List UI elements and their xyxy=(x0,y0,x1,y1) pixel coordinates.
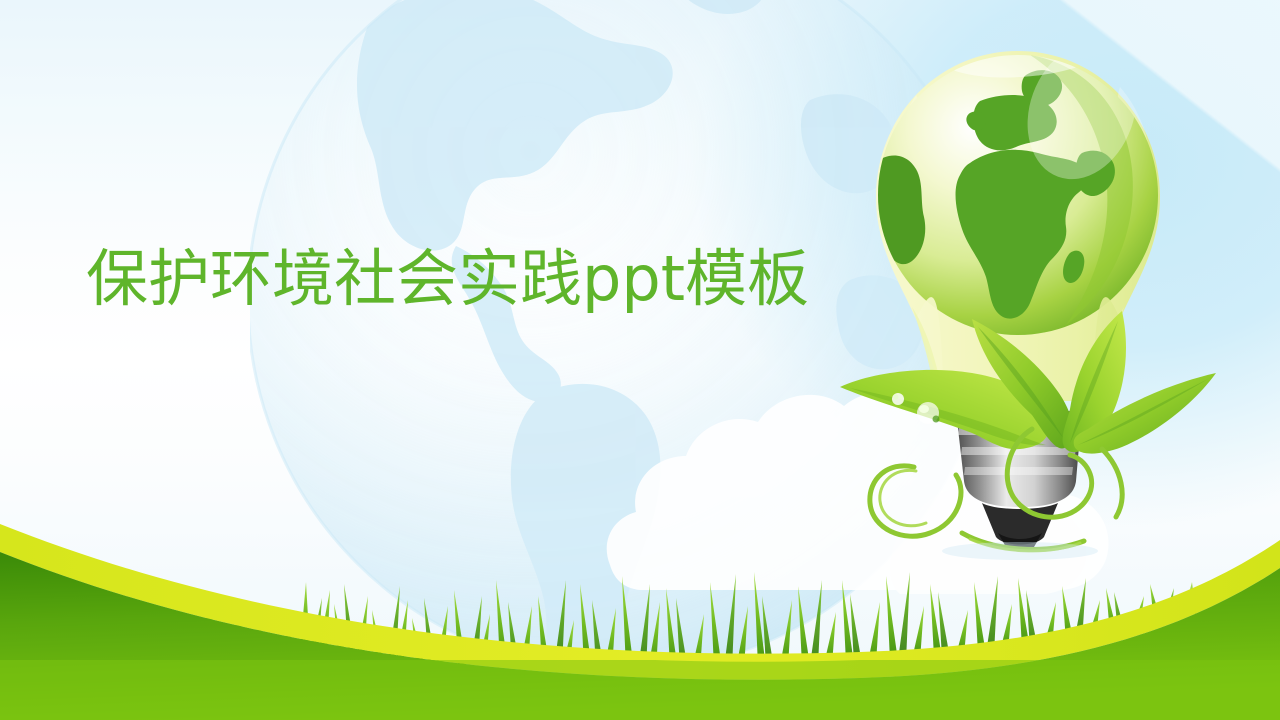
lightbulb-icon xyxy=(820,35,1220,585)
slide-title: 保护环境社会实践ppt模板 xyxy=(86,246,809,311)
grass-icon xyxy=(0,510,1280,720)
presentation-slide: 保护环境社会实践ppt模板 xyxy=(0,0,1280,720)
